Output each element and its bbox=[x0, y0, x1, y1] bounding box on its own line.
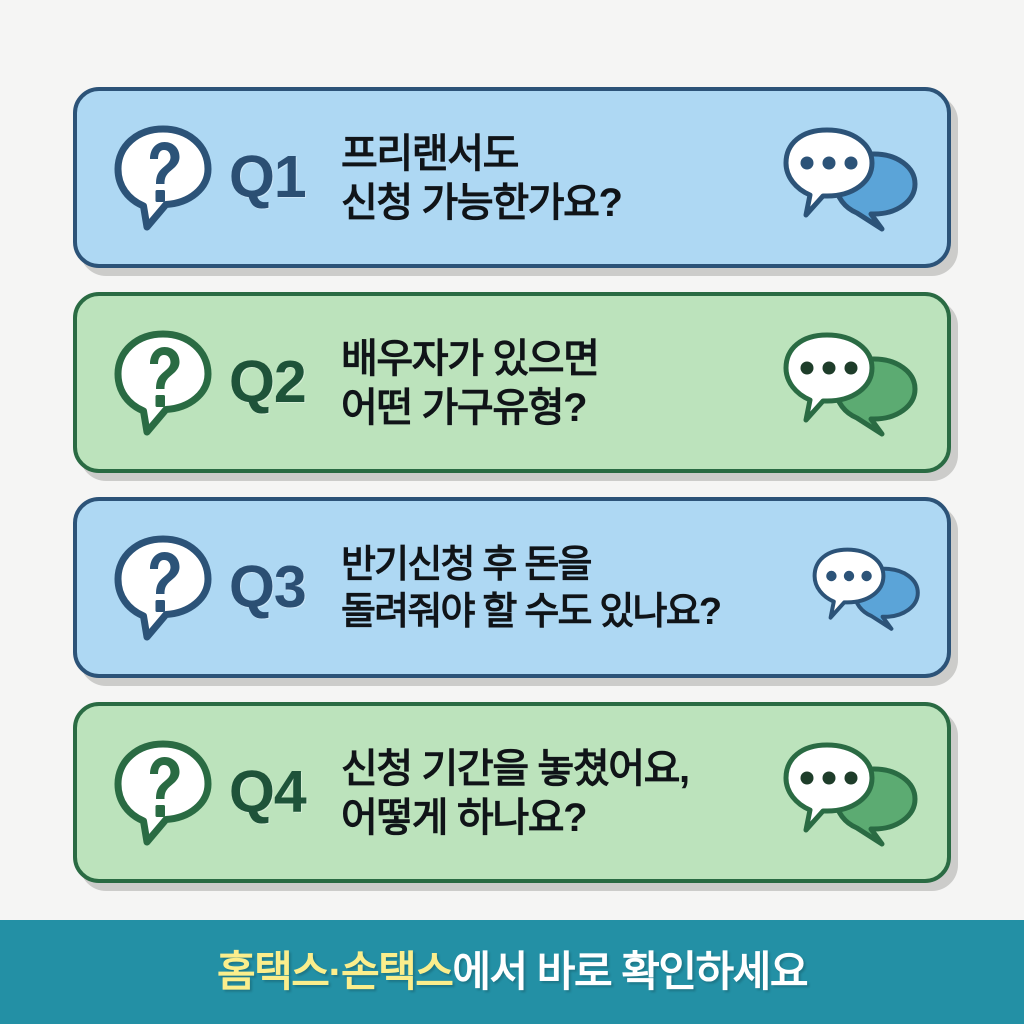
faq-label-q1: Q1 bbox=[229, 148, 333, 207]
faq-question-q3: 반기신청 후 돈을돌려줘야 할 수도 있나요? bbox=[341, 540, 803, 635]
bottom-cta-rest: 에서 바로 확인하세요 bbox=[452, 948, 807, 995]
faq-card-q3[interactable]: Q3 반기신청 후 돈을돌려줘야 할 수도 있나요? bbox=[73, 497, 951, 678]
question-mark-speech-bubble-icon bbox=[111, 124, 215, 232]
question-mark-speech-bubble-icon bbox=[111, 739, 215, 847]
question-mark-speech-bubble-icon bbox=[111, 329, 215, 437]
bottom-cta-highlight: 홈택스·손택스 bbox=[217, 948, 452, 995]
chat-bubbles-icon bbox=[779, 327, 929, 439]
chat-bubbles-icon bbox=[809, 542, 929, 634]
infographic-root: Q1 프리랜서도신청 가능한가요? Q2 bbox=[0, 0, 1024, 1024]
faq-card-q4[interactable]: Q4 신청 기간을 놓쳤어요,어떻게 하나요? bbox=[73, 702, 951, 883]
faq-card-q1[interactable]: Q1 프리랜서도신청 가능한가요? bbox=[73, 87, 951, 268]
faq-question-q2: 배우자가 있으면어떤 가구유형? bbox=[341, 333, 773, 433]
question-mark-speech-bubble-icon bbox=[111, 534, 215, 642]
faq-card-list: Q1 프리랜서도신청 가능한가요? Q2 bbox=[73, 87, 951, 907]
bottom-cta-text: 홈택스·손택스에서 바로 확인하세요 bbox=[217, 951, 807, 993]
chat-bubbles-icon bbox=[779, 122, 929, 234]
faq-label-q3: Q3 bbox=[229, 558, 333, 617]
faq-question-q4: 신청 기간을 놓쳤어요,어떻게 하나요? bbox=[341, 743, 773, 843]
faq-card-q2[interactable]: Q2 배우자가 있으면어떤 가구유형? bbox=[73, 292, 951, 473]
faq-label-q4: Q4 bbox=[229, 763, 333, 822]
faq-label-q2: Q2 bbox=[229, 353, 333, 412]
chat-bubbles-icon bbox=[779, 737, 929, 849]
bottom-cta-banner[interactable]: 홈택스·손택스에서 바로 확인하세요 bbox=[0, 920, 1024, 1024]
faq-question-q1: 프리랜서도신청 가능한가요? bbox=[341, 128, 773, 228]
